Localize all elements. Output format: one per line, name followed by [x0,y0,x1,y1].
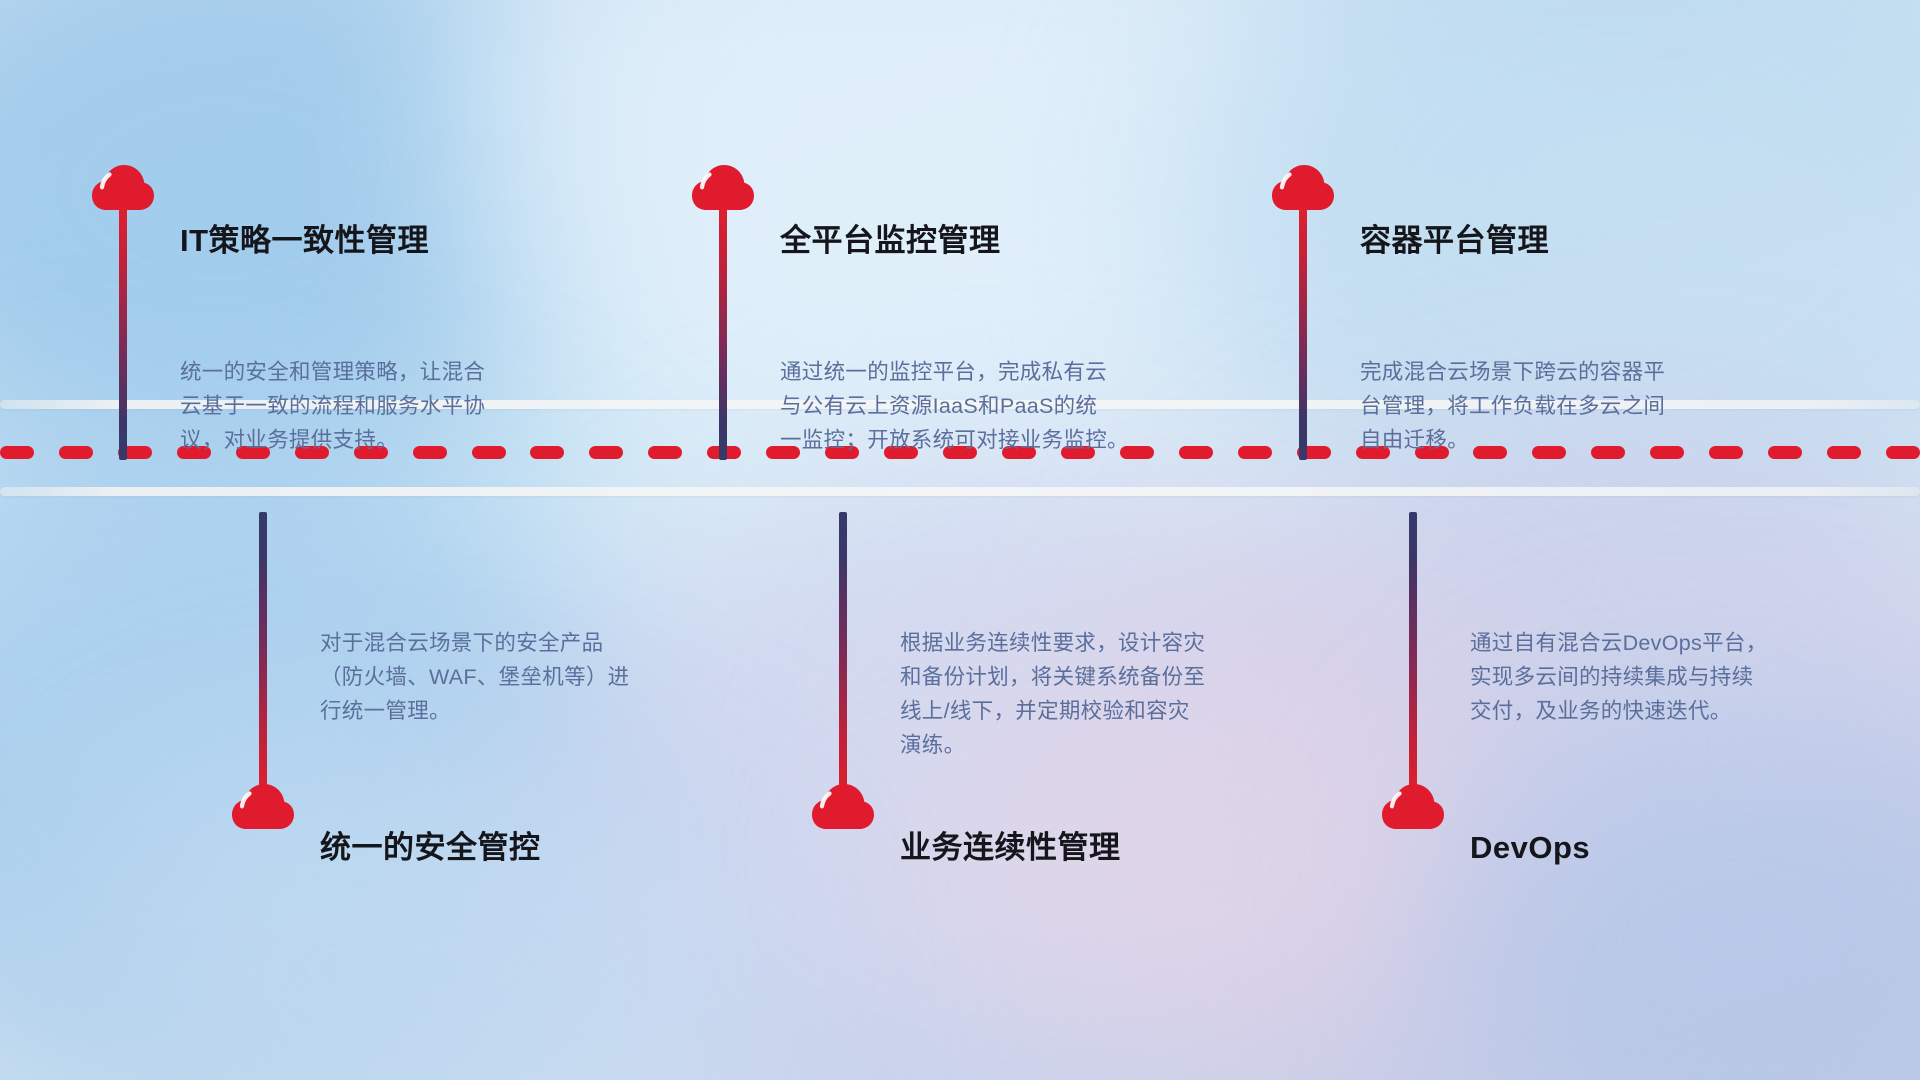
top-item-container-platform[interactable]: 容器平台管理 完成混合云场景下跨云的容器平 台管理，将工作负载在多云之间 自由迁… [1240,0,1880,400]
timeline-stem [1299,208,1307,460]
cloud-icon [1272,165,1334,211]
road-dash-segment [1886,446,1920,459]
item-body-text: 通过自有混合云DevOps平台， 实现多云间的持续集成与持续 交付，及业务的快速… [1470,626,1920,728]
timeline-stem [839,512,847,792]
item-heading: IT策略一致性管理 [180,225,429,256]
road-dash-segment [1238,446,1272,459]
cloud-icon [812,784,874,830]
road-dash-segment [1827,446,1861,459]
item-body-text: 完成混合云场景下跨云的容器平 台管理，将工作负载在多云之间 自由迁移。 [1360,355,1810,457]
item-heading: 业务连续性管理 [900,832,1121,863]
top-item-it-policy[interactable]: IT策略一致性管理 统一的安全和管理策略，让混合 云基于一致的流程和服务水平协 … [0,0,640,400]
cloud-icon [92,165,154,211]
item-heading: 全平台监控管理 [780,225,1001,256]
road-edge-bottom [0,487,1920,496]
cloud-icon [232,784,294,830]
item-heading: 容器平台管理 [1360,225,1549,256]
bottom-items-row: 对于混合云场景下的安全产品 （防火墙、WAF、堡垒机等）进 行统一管理。 统一的… [0,496,1920,1080]
item-heading: DevOps [1470,832,1590,863]
road-dash-segment [648,446,682,459]
timeline-stem [259,512,267,792]
cloud-icon [1382,784,1444,830]
road-dash-segment [59,446,93,459]
timeline-stem [119,208,127,460]
item-body-text: 统一的安全和管理策略，让混合 云基于一致的流程和服务水平协 议，对业务提供支持。 [180,355,620,457]
cloud-icon [692,165,754,211]
top-items-row: IT策略一致性管理 统一的安全和管理策略，让混合 云基于一致的流程和服务水平协 … [0,0,1920,400]
item-body-text: 通过统一的监控平台，完成私有云 与公有云上资源IaaS和PaaS的统 一监控；开… [780,355,1230,457]
timeline-stem [719,208,727,460]
top-item-platform-monitoring[interactable]: 全平台监控管理 通过统一的监控平台，完成私有云 与公有云上资源IaaS和PaaS… [660,0,1260,400]
item-heading: 统一的安全管控 [320,832,541,863]
road-dash-segment [0,446,34,459]
bottom-item-business-continuity[interactable]: 根据业务连续性要求，设计容灾 和备份计划，将关键系统备份至 线上/线下，并定期校… [700,496,1340,1080]
bottom-item-devops[interactable]: 通过自有混合云DevOps平台， 实现多云间的持续集成与持续 交付，及业务的快速… [1270,496,1910,1080]
timeline-stem [1409,512,1417,792]
bottom-item-unified-security[interactable]: 对于混合云场景下的安全产品 （防火墙、WAF、堡垒机等）进 行统一管理。 统一的… [120,496,760,1080]
